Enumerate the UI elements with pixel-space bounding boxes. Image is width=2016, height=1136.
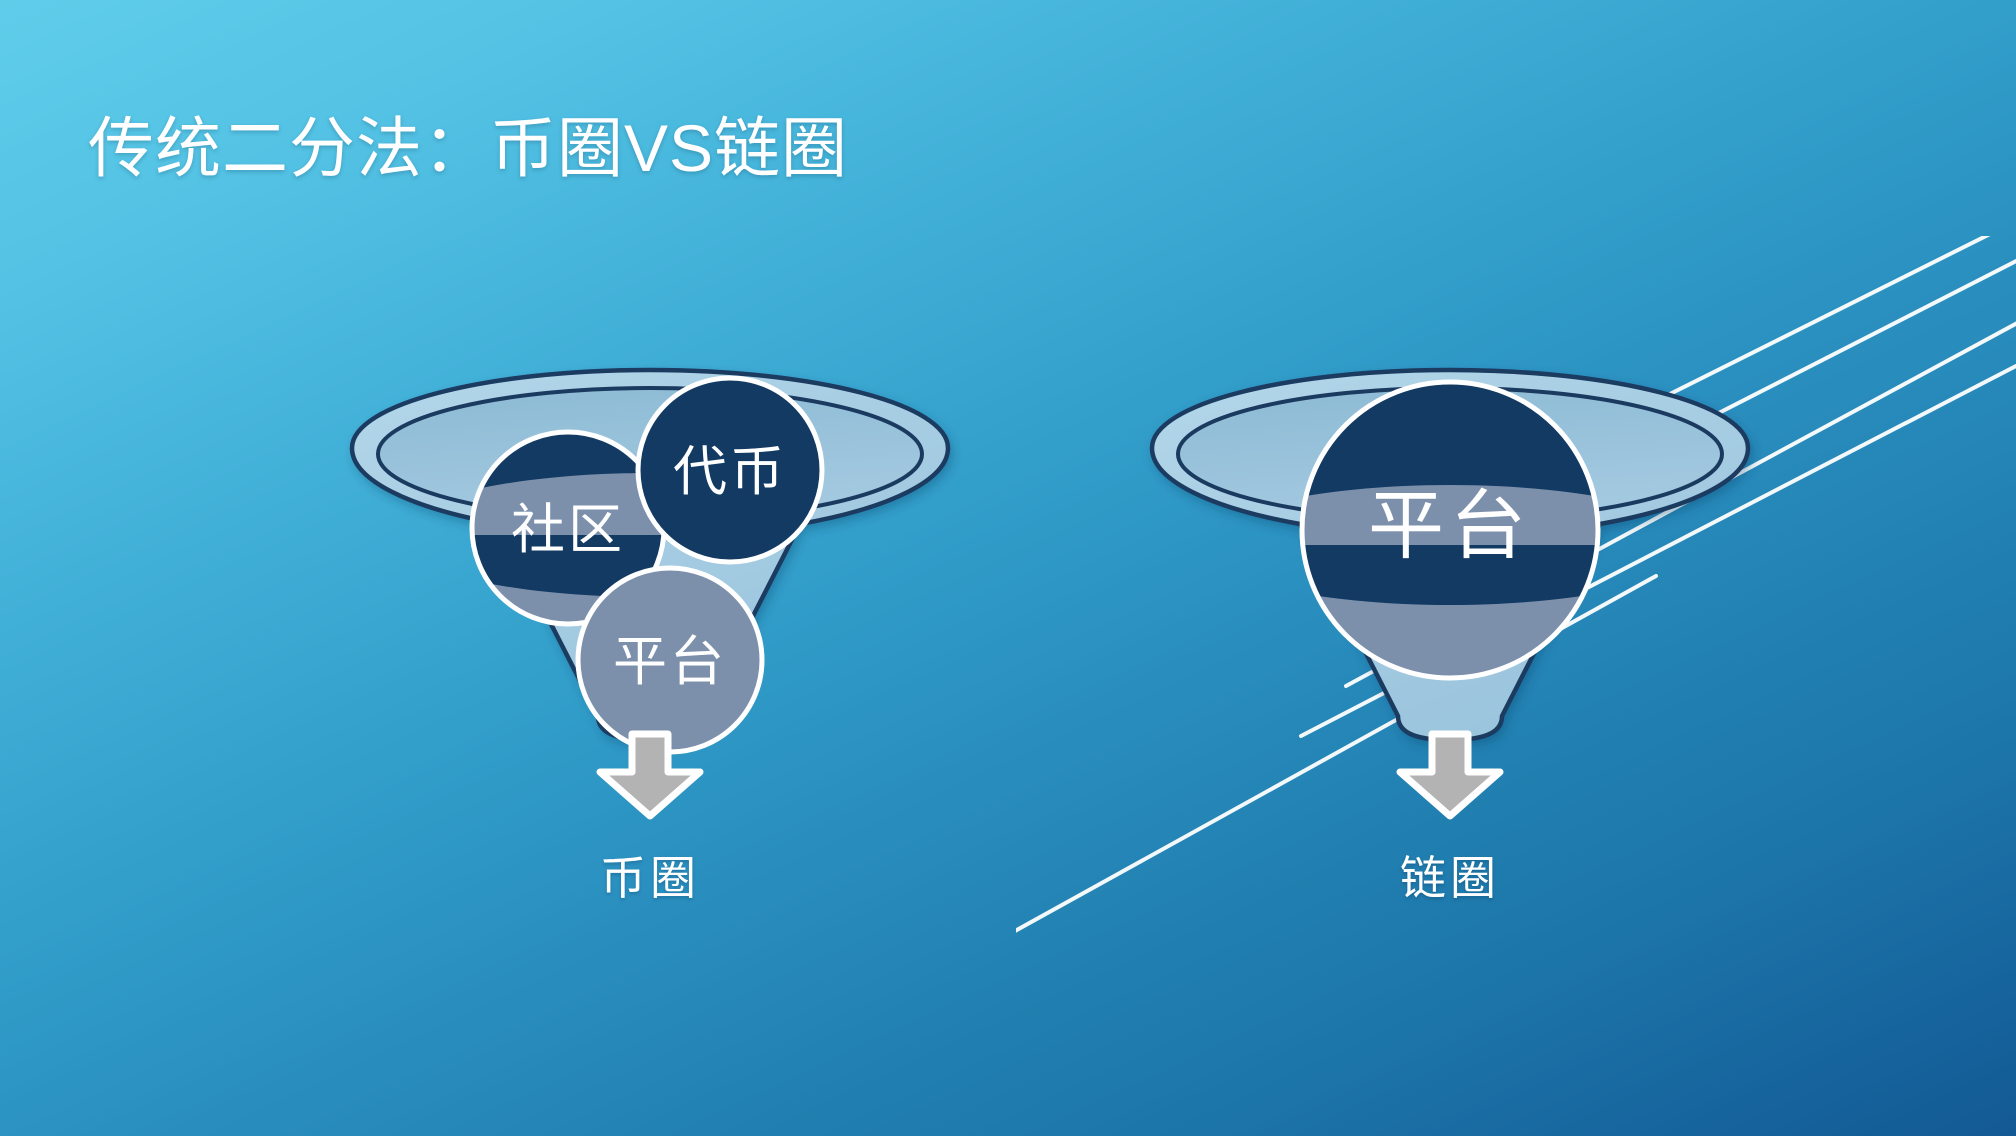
bubble-pingtai-left: 平台: [578, 568, 762, 752]
funnel-output-right: 链圈: [1130, 730, 1770, 908]
bubble-label-pingtai-left: 平台: [613, 632, 727, 692]
bubble-label-daibi: 代币: [673, 442, 787, 502]
bubble-label-shequ: 社区: [511, 500, 625, 560]
slide-canvas: 传统二分法：币圈VS链圈: [0, 0, 2016, 1136]
arrow-down-icon-left: [588, 730, 712, 820]
funnel-caption-left: 币圈: [330, 842, 970, 908]
funnel-output-left: 币圈: [330, 730, 970, 908]
funnel-group-right: 平台 链圈: [1130, 330, 1770, 970]
page-title: 传统二分法：币圈VS链圈: [88, 112, 848, 185]
bubble-label-pingtai-right: 平台: [1368, 484, 1532, 569]
funnel-group-left: 社区 代币 平台 币圈: [330, 330, 970, 970]
arrow-down-icon-right: [1388, 730, 1512, 820]
bubble-pingtai-right: 平台: [1302, 382, 1598, 678]
funnel-caption-right: 链圈: [1130, 842, 1770, 908]
bubble-daibi: 代币: [638, 378, 822, 562]
